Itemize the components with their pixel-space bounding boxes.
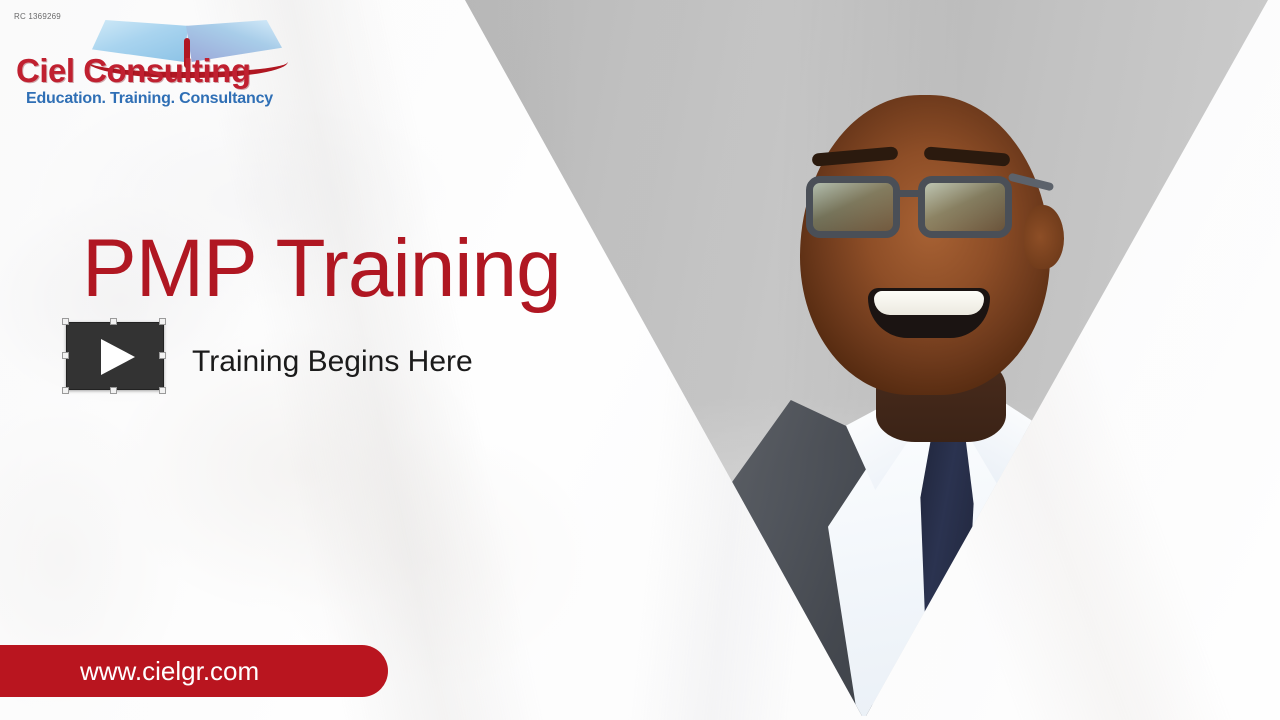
- play-icon: [101, 339, 135, 375]
- page-subtitle: Training Begins Here: [192, 345, 473, 379]
- teeth: [874, 291, 984, 315]
- resize-handle-bottom-right[interactable]: [159, 387, 166, 394]
- resize-handle-bottom-middle[interactable]: [110, 387, 117, 394]
- resize-handle-middle-left[interactable]: [62, 352, 69, 359]
- eyeglasses-icon: [800, 168, 1040, 248]
- resize-handle-top-left[interactable]: [62, 318, 69, 325]
- glasses-temple: [1008, 173, 1055, 192]
- resize-handle-middle-right[interactable]: [159, 352, 166, 359]
- page-title: PMP Training: [82, 228, 561, 310]
- resize-handle-bottom-left[interactable]: [62, 387, 69, 394]
- logo-company-name: Ciel Consulting: [16, 52, 251, 90]
- presentation-slide: RC 1369269 Ciel Consulting Education. Tr…: [0, 0, 1280, 720]
- website-url-banner[interactable]: www.cielgr.com: [0, 645, 388, 697]
- resize-handle-top-middle[interactable]: [110, 318, 117, 325]
- smile: [868, 288, 990, 338]
- lens-left: [806, 176, 900, 238]
- lens-right: [918, 176, 1012, 238]
- resize-handle-top-right[interactable]: [159, 318, 166, 325]
- video-play-button[interactable]: [66, 322, 164, 390]
- website-url-text: www.cielgr.com: [80, 656, 259, 687]
- company-logo: RC 1369269 Ciel Consulting Education. Tr…: [8, 4, 308, 116]
- logo-tagline: Education. Training. Consultancy: [26, 90, 273, 108]
- glasses-bridge: [896, 190, 924, 197]
- rc-number-label: RC 1369269: [14, 12, 61, 21]
